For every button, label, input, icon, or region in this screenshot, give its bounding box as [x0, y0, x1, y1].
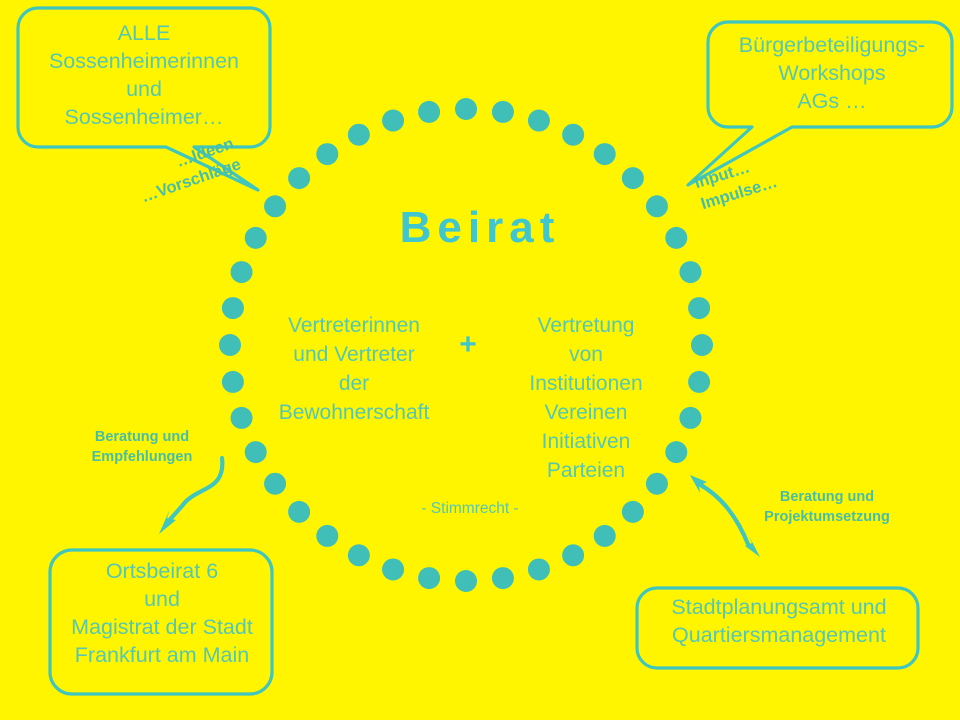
ring-dot: [245, 441, 267, 463]
ring-dot: [492, 101, 514, 123]
center-column-right: Vertretung von Institutionen Vereinen In…: [500, 312, 672, 486]
ring-dot: [455, 98, 477, 120]
ring-dot: [622, 501, 644, 523]
ring-dot: [348, 544, 370, 566]
ring-dot: [594, 525, 616, 547]
curved-arrow-left: [159, 458, 222, 534]
ring-dot: [418, 101, 440, 123]
curved-arrow-shaft: [699, 484, 748, 544]
ring-dot: [691, 334, 713, 356]
ring-dot: [688, 297, 710, 319]
callout-top-right-text: Bürgerbeteiligungs- Workshops AGs …: [712, 32, 952, 116]
ring-dot: [348, 124, 370, 146]
center-column-left: Vertreterinnen und Vertreter der Bewohne…: [268, 312, 440, 428]
diagram-title: Beirat: [0, 203, 960, 253]
annotation-beratung-empfehlungen: Beratung und Empfehlungen: [74, 428, 210, 467]
ring-dot: [264, 473, 286, 495]
ring-dot: [418, 567, 440, 589]
ring-dot: [382, 110, 404, 132]
ring-dot: [231, 261, 253, 283]
ring-dot: [492, 567, 514, 589]
ring-dot: [528, 558, 550, 580]
ring-dot: [622, 167, 644, 189]
box-bottom-right-text: Stadtplanungsamt und Quartiersmanagement: [638, 594, 920, 650]
ring-dot: [679, 261, 701, 283]
ring-dot: [528, 110, 550, 132]
ring-dot: [316, 143, 338, 165]
ring-dot: [562, 124, 584, 146]
box-bottom-left-text: Ortsbeirat 6 und Magistrat der Stadt Fra…: [50, 558, 274, 670]
plus-icon: +: [448, 330, 488, 360]
ring-dot: [288, 167, 310, 189]
ring-dot: [688, 371, 710, 393]
ring-dot: [382, 558, 404, 580]
ring-dot: [288, 501, 310, 523]
ring-dot: [594, 143, 616, 165]
ring-dot: [316, 525, 338, 547]
ring-dot: [231, 407, 253, 429]
ring-dot: [222, 371, 244, 393]
ring-dot: [455, 570, 477, 592]
ring-dot: [679, 407, 701, 429]
ring-dot: [562, 544, 584, 566]
annotation-beratung-projektumsetzung: Beratung und Projektumsetzung: [742, 488, 912, 527]
center-footnote: - Stimmrecht -: [330, 500, 610, 518]
diagram-canvas: ALLE Sossenheimerinnen und Sossenheimer……: [0, 0, 960, 720]
callout-top-left-text: ALLE Sossenheimerinnen und Sossenheimer…: [20, 20, 268, 132]
arrowhead-up: [690, 475, 707, 493]
curved-arrow-shaft: [166, 458, 222, 524]
ring-dot: [219, 334, 241, 356]
ring-dot: [222, 297, 244, 319]
